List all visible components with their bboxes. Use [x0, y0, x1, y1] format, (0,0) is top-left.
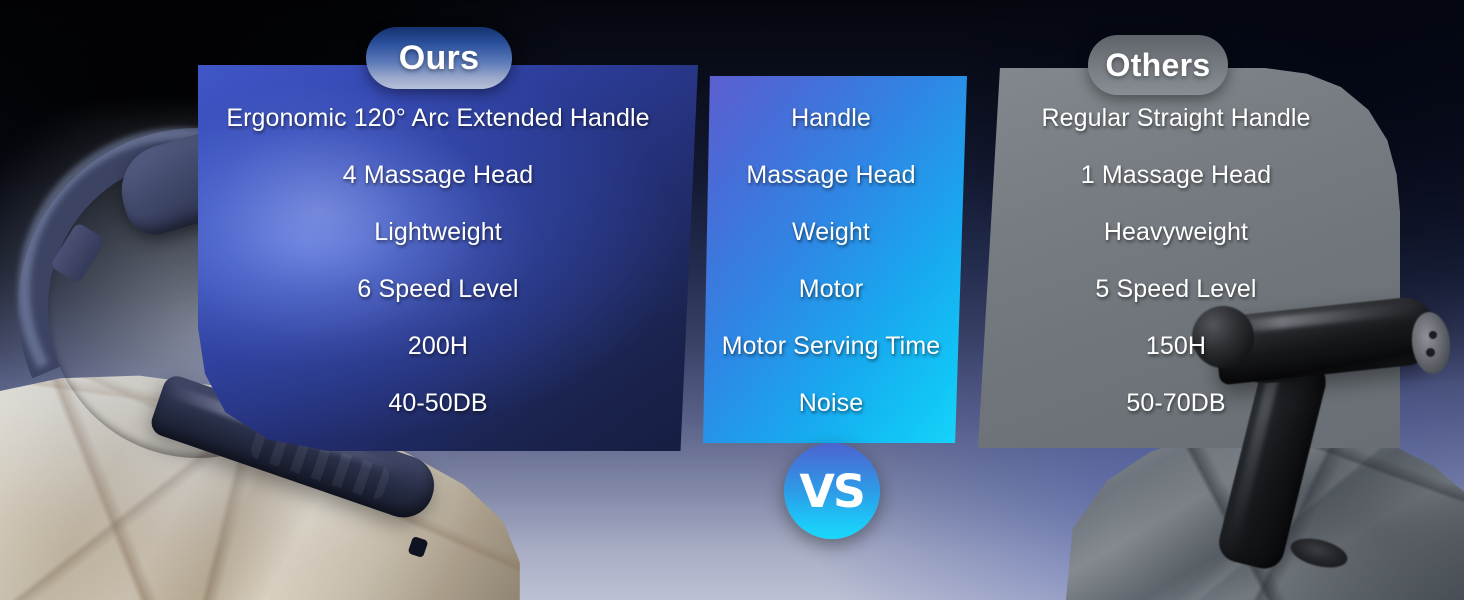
others-row: 50-70DB	[976, 375, 1376, 432]
others-row: 150H	[976, 318, 1376, 375]
attribute-row: Noise	[700, 375, 962, 432]
others-row: 1 Massage Head	[976, 147, 1376, 204]
attribute-row: Handle	[700, 90, 962, 147]
ours-feature-list: Ergonomic 120° Arc Extended Handle 4 Mas…	[198, 90, 678, 432]
ours-row: Lightweight	[198, 204, 678, 261]
others-row: Regular Straight Handle	[976, 90, 1376, 147]
comparison-infographic: Ergonomic 120° Arc Extended Handle 4 Mas…	[0, 0, 1464, 600]
vs-label: VS	[800, 465, 865, 518]
ours-row: Ergonomic 120° Arc Extended Handle	[198, 90, 678, 147]
attribute-row: Motor Serving Time	[700, 318, 962, 375]
ours-row: 40-50DB	[198, 375, 678, 432]
others-badge: Others	[1088, 35, 1228, 95]
product-right-endcap-hole-2	[1426, 348, 1435, 357]
ours-row: 4 Massage Head	[198, 147, 678, 204]
attribute-row: Massage Head	[700, 147, 962, 204]
others-feature-list: Regular Straight Handle 1 Massage Head H…	[976, 90, 1376, 432]
attribute-row: Weight	[700, 204, 962, 261]
others-row: 5 Speed Level	[976, 261, 1376, 318]
ours-row: 6 Speed Level	[198, 261, 678, 318]
attribute-row: Motor	[700, 261, 962, 318]
ours-row: 200H	[198, 318, 678, 375]
product-right-endcap-hole-1	[1429, 331, 1437, 339]
ours-badge: Ours	[366, 27, 512, 89]
attribute-list: Handle Massage Head Weight Motor Motor S…	[700, 90, 962, 432]
vs-badge: VS	[784, 443, 880, 539]
others-row: Heavyweight	[976, 204, 1376, 261]
